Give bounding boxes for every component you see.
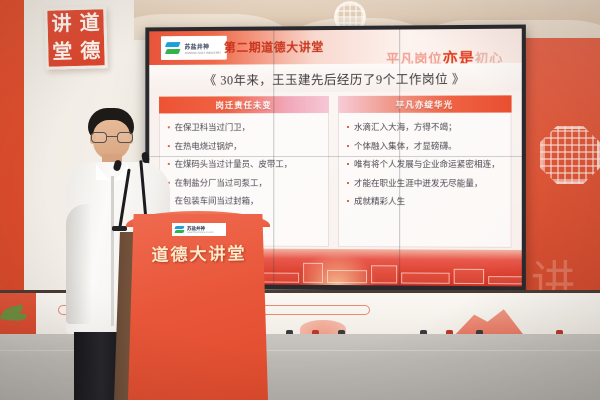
potted-plant xyxy=(0,300,40,350)
wall-red-stripe xyxy=(0,0,24,318)
photo-scene: 讲 道 堂 德 讲 苏盐井神 J xyxy=(0,0,600,400)
slide-column-right: 平凡亦绽华光 水滴汇入大海，方得不竭； 个体融入集体，才显磅礴。 唯有将个人发展… xyxy=(338,95,512,248)
list-item: 水滴汇入大海，方得不竭； xyxy=(347,122,504,132)
bullet-text: 在制盐分厂当过司泵工， xyxy=(175,177,267,187)
wall-seal-plaque: 讲 道 堂 德 xyxy=(44,6,108,70)
brand-name-sub: JIANGSU SALT INDUSTRY xyxy=(185,50,222,54)
bullet-text: 在包装车间当过封箱， xyxy=(175,196,259,206)
podium-company-logo: 苏盐井神 www.hzsy.inspire-cn.com xyxy=(172,223,226,236)
bullet-text: 唯有将个人发展与企业命运紧密相连， xyxy=(354,159,500,169)
brand-name-cn: 苏盐井神 xyxy=(185,41,222,50)
cityscape-building xyxy=(454,269,484,284)
shirt-placket xyxy=(111,176,114,326)
cityscape-building xyxy=(401,272,449,283)
bullet-text: 个体融入集体，才显磅礴。 xyxy=(354,140,457,150)
plant-leaf xyxy=(0,311,27,322)
led-seam xyxy=(149,156,522,157)
glasses-icon xyxy=(91,132,133,143)
list-item: 才能在职业生涯中迸发无尽能量， xyxy=(347,178,504,188)
bullet-dot-icon xyxy=(347,144,349,146)
podium-title: 道德大讲堂 xyxy=(135,239,263,266)
bullet-dot-icon xyxy=(347,126,349,128)
bullet-text: 成就精彩人生 xyxy=(354,196,405,206)
seal-char-4: 德 xyxy=(76,37,105,66)
cityscape-building xyxy=(371,265,397,283)
octagon-lattice-window-icon xyxy=(540,126,600,184)
list-item: 在包装车间当过封箱， xyxy=(168,196,322,206)
column-header-right: 平凡亦绽华光 xyxy=(338,95,512,113)
speaker-arm xyxy=(66,204,92,324)
wall-panel-red: 讲 xyxy=(517,38,600,296)
list-item: 在保卫科当过门卫， xyxy=(168,122,322,132)
bullet-text: 水滴汇入大海，方得不竭； xyxy=(354,122,457,132)
bullet-dot-icon xyxy=(347,163,349,165)
bullet-dot-icon xyxy=(347,200,349,202)
column-body-right: 水滴汇入大海，方得不竭； 个体融入集体，才显磅礴。 唯有将个人发展与企业命运紧密… xyxy=(338,113,512,248)
slide-subtitle-bar: 《 30年来，王玉建先后经历了9个工作岗位 》 xyxy=(149,63,522,93)
shirt-collar xyxy=(96,164,109,180)
seal-char-2: 道 xyxy=(75,9,104,38)
column-header-left: 岗迁责任未变 xyxy=(159,96,329,113)
list-item: 个体融入集体，才显磅礴。 xyxy=(347,140,504,150)
cityscape-building xyxy=(327,270,367,283)
list-item: 在热电烧过锅炉， xyxy=(168,141,322,151)
cityscape-building xyxy=(488,276,522,284)
bullet-dot-icon xyxy=(347,182,349,184)
list-item: 成就精彩人生 xyxy=(347,196,504,206)
seal-char-3: 堂 xyxy=(48,38,77,67)
slide-brand-logo: 苏盐井神 JIANGSU SALT INDUSTRY xyxy=(161,36,227,60)
bullet-text: 在煤码头当过计量员、皮带工， xyxy=(175,159,292,169)
company-logo-icon xyxy=(165,40,181,56)
cityscape-building xyxy=(303,263,323,283)
led-seam xyxy=(273,30,274,284)
podium-logo-sub: www.hzsy.inspire-cn.com xyxy=(187,231,214,234)
bullet-text: 才能在职业生涯中迸发无尽能量， xyxy=(354,178,483,188)
list-item: 唯有将个人发展与企业命运紧密相连， xyxy=(347,159,504,169)
led-seam xyxy=(399,30,400,286)
bullet-text: 在热电烧过锅炉， xyxy=(175,141,242,151)
company-logo-icon xyxy=(175,225,184,234)
seal-char-1: 讲 xyxy=(47,10,76,39)
slide-subtitle: 《 30年来，王玉建先后经历了9个工作岗位 》 xyxy=(204,68,465,88)
list-item: 在煤码头当过计量员、皮带工， xyxy=(168,159,322,169)
microphone-base xyxy=(112,226,127,231)
list-item: 在制盐分厂当过司泵工， xyxy=(168,177,322,187)
bullet-text: 在保卫科当过门卫， xyxy=(175,122,250,132)
